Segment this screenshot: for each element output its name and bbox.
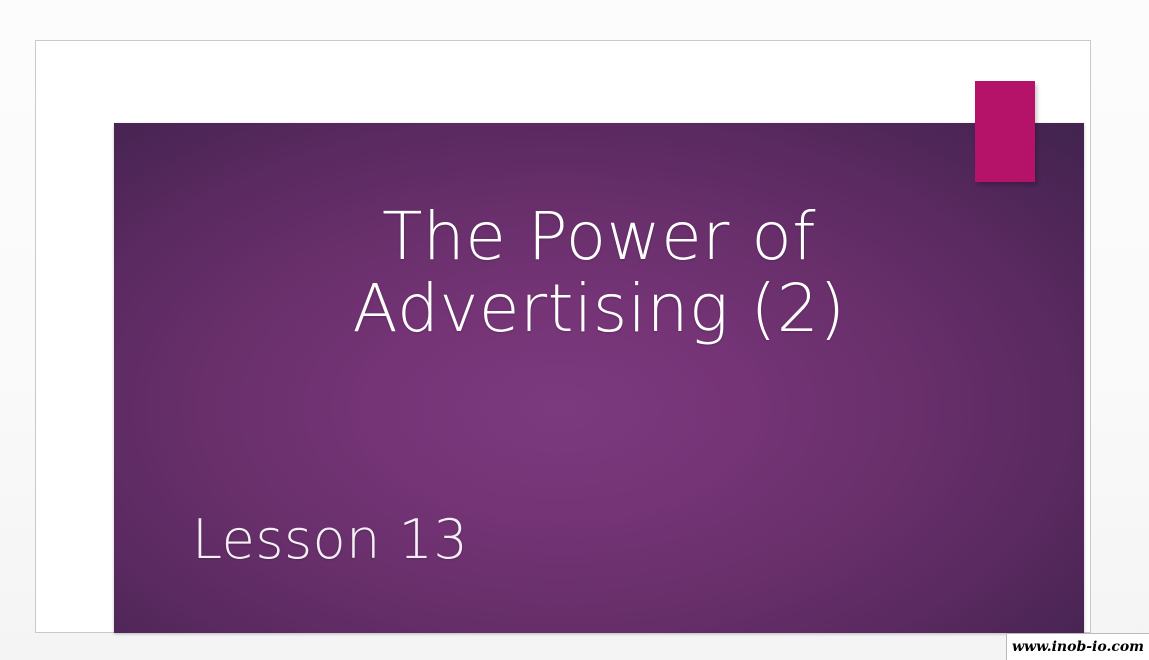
watermark-url-text: www.inob-io.com (1012, 639, 1144, 655)
slide-subtitle: Lesson 13 (192, 509, 468, 571)
watermark-plate: www.inob-io.com (1006, 633, 1149, 660)
slide-frame: The Power of Advertising (2) Lesson 13 (35, 40, 1091, 633)
slide-title: The Power of Advertising (2) (114, 201, 1084, 345)
accent-block (975, 81, 1035, 182)
